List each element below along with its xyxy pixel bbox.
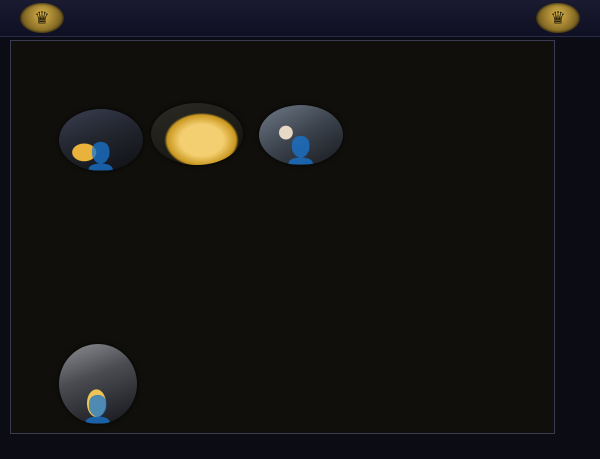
photo-putin-inspecting-gold: 👤 <box>59 344 137 424</box>
photo-medvedev: 👤 <box>259 105 343 165</box>
eagle-crest-icon-right: ♛ <box>536 3 580 33</box>
figure-silhouette: 👤 <box>82 396 114 422</box>
photo-putin-gold-bar: 👤 <box>59 109 143 171</box>
chart-page: ♛ ♛ 👤 👤 👤 <box>0 0 600 459</box>
figure-silhouette: 👤 <box>285 137 317 163</box>
photo-gold-bars <box>151 103 243 165</box>
eagle-glyph: ♛ <box>550 10 565 27</box>
eagle-crest-icon-left: ♛ <box>20 3 64 33</box>
eagle-glyph: ♛ <box>34 10 49 27</box>
plot-frame: 👤 👤 👤 <box>10 40 555 434</box>
figure-silhouette: 👤 <box>85 143 117 169</box>
chart-header: ♛ ♛ <box>0 0 600 37</box>
